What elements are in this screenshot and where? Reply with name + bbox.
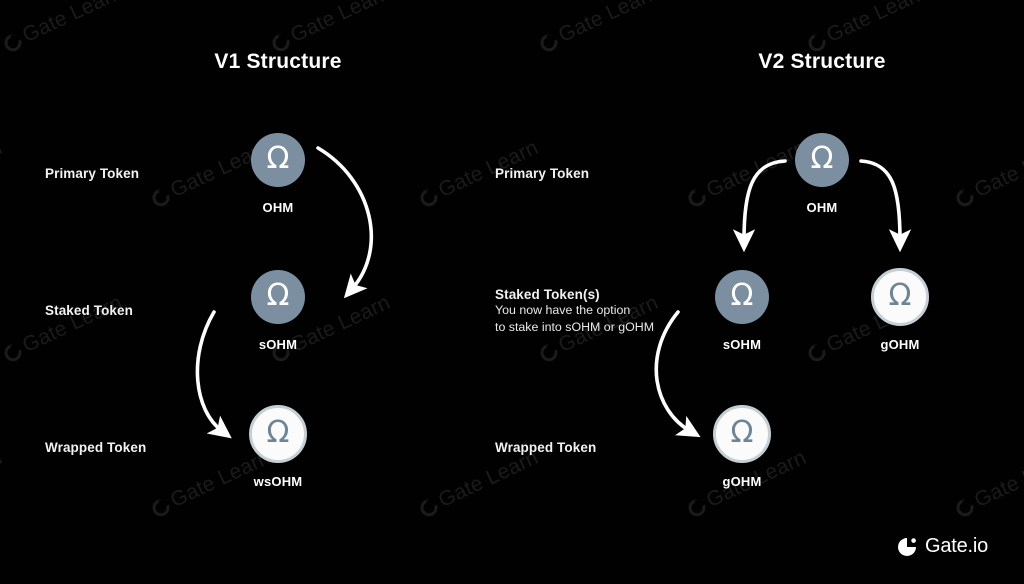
token-v2-gohm-wrapped[interactable]: Ω gOHM: [710, 402, 774, 489]
token-v1-sohm[interactable]: Ω sOHM: [246, 265, 310, 352]
row-label-v2-wrapped: Wrapped Token: [495, 440, 596, 455]
token-disc: Ω: [246, 265, 310, 329]
token-label: wsOHM: [246, 474, 310, 489]
token-v1-ohm[interactable]: Ω OHM: [246, 128, 310, 215]
row-label-v1-primary: Primary Token: [45, 166, 139, 181]
token-v2-sohm[interactable]: Ω sOHM: [710, 265, 774, 352]
token-v2-gohm-staked[interactable]: Ω gOHM: [868, 265, 932, 352]
token-label: gOHM: [710, 474, 774, 489]
diagram-canvas: Gate LearnGate LearnGate LearnGate Learn…: [0, 0, 1024, 584]
token-disc: Ω: [790, 128, 854, 192]
panel-title-v2: V2 Structure: [751, 50, 893, 74]
omega-icon: Ω: [731, 418, 754, 448]
brand-name: Gate.io: [925, 535, 988, 558]
token-label: OHM: [246, 200, 310, 215]
panel-title-v1: V1 Structure: [207, 50, 349, 74]
row-label-v2-staked: Staked Token(s): [495, 287, 654, 302]
omega-icon: Ω: [267, 144, 290, 174]
row-label-v1-wrapped: Wrapped Token: [45, 440, 146, 455]
token-circle: Ω: [795, 133, 849, 187]
row-label-v1-staked: Staked Token: [45, 303, 133, 318]
token-circle: Ω: [713, 405, 771, 463]
omega-icon: Ω: [731, 281, 754, 311]
row-label-v2-staked-block: Staked Token(s) You now have the option …: [495, 287, 654, 335]
token-v1-wsohm[interactable]: Ω wsOHM: [246, 402, 310, 489]
omega-icon: Ω: [811, 144, 834, 174]
token-disc: Ω: [246, 402, 310, 466]
token-disc: Ω: [710, 265, 774, 329]
token-circle: Ω: [249, 405, 307, 463]
omega-icon: Ω: [267, 281, 290, 311]
token-disc: Ω: [246, 128, 310, 192]
token-circle: Ω: [715, 270, 769, 324]
row-label-v2-staked-sub1: You now have the option: [495, 302, 654, 319]
token-circle: Ω: [251, 133, 305, 187]
token-disc: Ω: [710, 402, 774, 466]
token-label: sOHM: [246, 337, 310, 352]
token-disc: Ω: [868, 265, 932, 329]
token-label: OHM: [790, 200, 854, 215]
omega-icon: Ω: [889, 281, 912, 311]
brand-logo: Gate.io: [896, 535, 988, 558]
token-label: gOHM: [868, 337, 932, 352]
gate-g-icon: [896, 536, 918, 558]
token-v2-ohm[interactable]: Ω OHM: [790, 128, 854, 215]
row-label-v2-primary: Primary Token: [495, 166, 589, 181]
token-circle: Ω: [871, 268, 929, 326]
row-label-v2-staked-sub2: to stake into sOHM or gOHM: [495, 319, 654, 336]
omega-icon: Ω: [267, 418, 290, 448]
token-label: sOHM: [710, 337, 774, 352]
token-circle: Ω: [251, 270, 305, 324]
